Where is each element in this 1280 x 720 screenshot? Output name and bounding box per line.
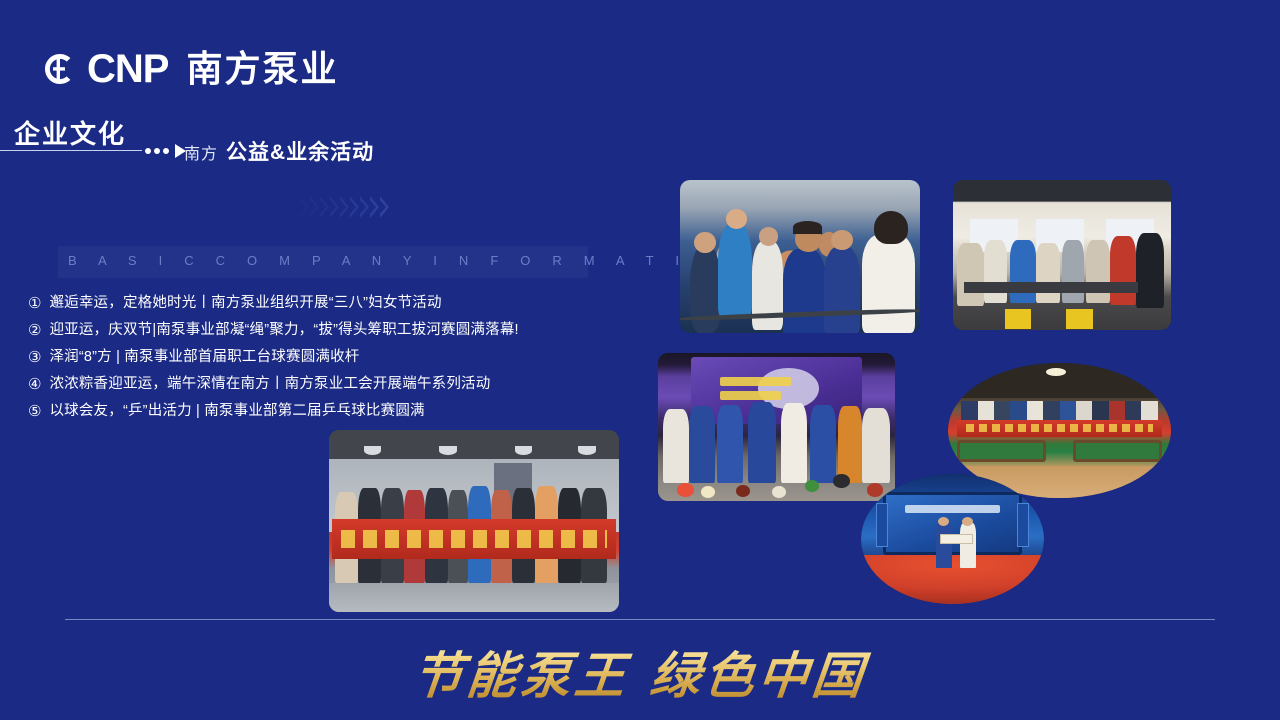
list-item: ① 邂逅幸运，定格她时光丨南方泵业组织开展“三八”妇女节活动	[28, 290, 608, 317]
photo-canteen	[953, 180, 1171, 330]
brand-logo: CNP 南方泵业	[43, 49, 338, 89]
list-item: ④ 浓浓粽香迎亚运，端午深情在南方丨南方泵业工会开展端午系列活动	[28, 371, 608, 398]
list-item-number: ④	[28, 371, 41, 398]
subtitle-main: 公益&业余活动	[226, 136, 374, 166]
list-item-label: 以球会友，“乒”出活力 | 南泵事业部第二届乒乓球比赛圆满	[49, 398, 424, 425]
slide-root: CNP 南方泵业 企业文化 南方 公益&业余活动 B A S I C C O M…	[0, 0, 1280, 720]
cnp-monogram-icon	[43, 52, 77, 86]
page-title: 企业文化	[14, 114, 126, 151]
list-item: ⑤ 以球会友，“乒”出活力 | 南泵事业部第二届乒乓球比赛圆满	[28, 398, 608, 425]
bottom-divider	[65, 619, 1215, 620]
logo-text-en: CNP	[87, 49, 168, 89]
list-item-label: 浓浓粽香迎亚运，端午深情在南方丨南方泵业工会开展端午系列活动	[49, 371, 490, 398]
list-item-number: ③	[28, 344, 41, 371]
activity-list: ① 邂逅幸运，定格她时光丨南方泵业组织开展“三八”妇女节活动 ② 迎亚运，庆双节…	[28, 290, 608, 425]
list-item-number: ①	[28, 290, 41, 317]
three-dots-icon	[145, 144, 186, 158]
subtitle-small: 南方	[184, 140, 218, 164]
photo-award	[861, 474, 1044, 604]
chevron-right-repeat-icon	[300, 196, 389, 218]
photo-eventhall	[658, 353, 895, 501]
photo-pingpong	[329, 430, 619, 612]
title-underline	[0, 150, 142, 151]
info-band-label: B A S I C C O M P A N Y I N F O R M A T …	[68, 253, 752, 268]
list-item-label: 迎亚运，庆双节|南泵事业部凝“绳”聚力，“拔”得头筹职工拔河赛圆满落幕!	[49, 317, 518, 344]
list-item: ② 迎亚运，庆双节|南泵事业部凝“绳”聚力，“拔”得头筹职工拔河赛圆满落幕!	[28, 317, 608, 344]
list-item-number: ②	[28, 317, 41, 344]
footer-slogan: 节能泵王 绿色中国	[0, 636, 1280, 708]
list-item: ③ 泽润“8”方 | 南泵事业部首届职工台球赛圆满收杆	[28, 344, 608, 371]
list-item-label: 邂逅幸运，定格她时光丨南方泵业组织开展“三八”妇女节活动	[49, 290, 441, 317]
photo-tugofwar	[680, 180, 920, 333]
list-item-label: 泽润“8”方 | 南泵事业部首届职工台球赛圆满收杆	[49, 344, 359, 371]
list-item-number: ⑤	[28, 398, 41, 425]
logo-text-cn: 南方泵业	[186, 51, 338, 87]
